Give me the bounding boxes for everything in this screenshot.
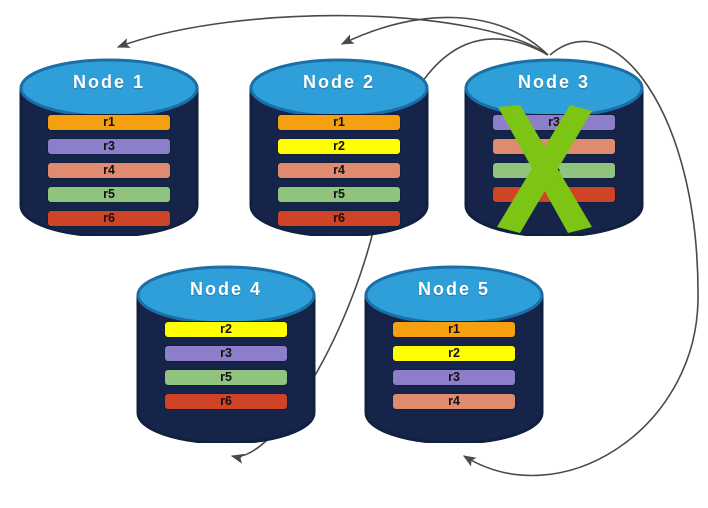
edge-node3-to-node2 (342, 17, 548, 55)
replica-bar[interactable]: r3 (392, 369, 516, 386)
replica-bar[interactable]: r6 (47, 210, 171, 227)
node-title: Node 1 (18, 72, 200, 93)
replica-bar[interactable]: r6 (277, 210, 401, 227)
replica-list: r3r4r5r6 (492, 114, 616, 210)
replica-list: r2r3r5r6 (164, 321, 288, 417)
replica-list: r1r2r4r5r6 (277, 114, 401, 234)
replica-list: r1r3r4r5r6 (47, 114, 171, 234)
edge-node3-to-node1 (118, 16, 548, 55)
replica-bar[interactable]: r3 (47, 138, 171, 155)
replica-bar[interactable]: r6 (492, 186, 616, 203)
node-title: Node 3 (463, 72, 645, 93)
node-node-1[interactable]: Node 1r1r3r4r5r6 (18, 58, 200, 236)
replica-bar[interactable]: r6 (164, 393, 288, 410)
replica-bar[interactable]: r3 (164, 345, 288, 362)
replica-bar[interactable]: r5 (164, 369, 288, 386)
replica-bar[interactable]: r5 (47, 186, 171, 203)
replica-bar[interactable]: r4 (392, 393, 516, 410)
replica-bar[interactable]: r1 (277, 114, 401, 131)
node-node-2[interactable]: Node 2r1r2r4r5r6 (248, 58, 430, 236)
node-title: Node 4 (135, 279, 317, 300)
replica-bar[interactable]: r2 (164, 321, 288, 338)
replica-bar[interactable]: r4 (492, 138, 616, 155)
replica-bar[interactable]: r1 (47, 114, 171, 131)
node-node-4[interactable]: Node 4r2r3r5r6 (135, 265, 317, 443)
node-title: Node 2 (248, 72, 430, 93)
replica-bar[interactable]: r5 (492, 162, 616, 179)
replica-bar[interactable]: r2 (277, 138, 401, 155)
diagram-canvas: Node 1r1r3r4r5r6Node 2r1r2r4r5r6Node 3r3… (0, 0, 708, 508)
replica-bar[interactable]: r2 (392, 345, 516, 362)
replica-bar[interactable]: r1 (392, 321, 516, 338)
replica-bar[interactable]: r4 (47, 162, 171, 179)
replica-bar[interactable]: r4 (277, 162, 401, 179)
node-node-3[interactable]: Node 3r3r4r5r6 (463, 58, 645, 236)
replica-bar[interactable]: r3 (492, 114, 616, 131)
replica-bar[interactable]: r5 (277, 186, 401, 203)
node-title: Node 5 (363, 279, 545, 300)
node-node-5[interactable]: Node 5r1r2r3r4 (363, 265, 545, 443)
replica-list: r1r2r3r4 (392, 321, 516, 417)
